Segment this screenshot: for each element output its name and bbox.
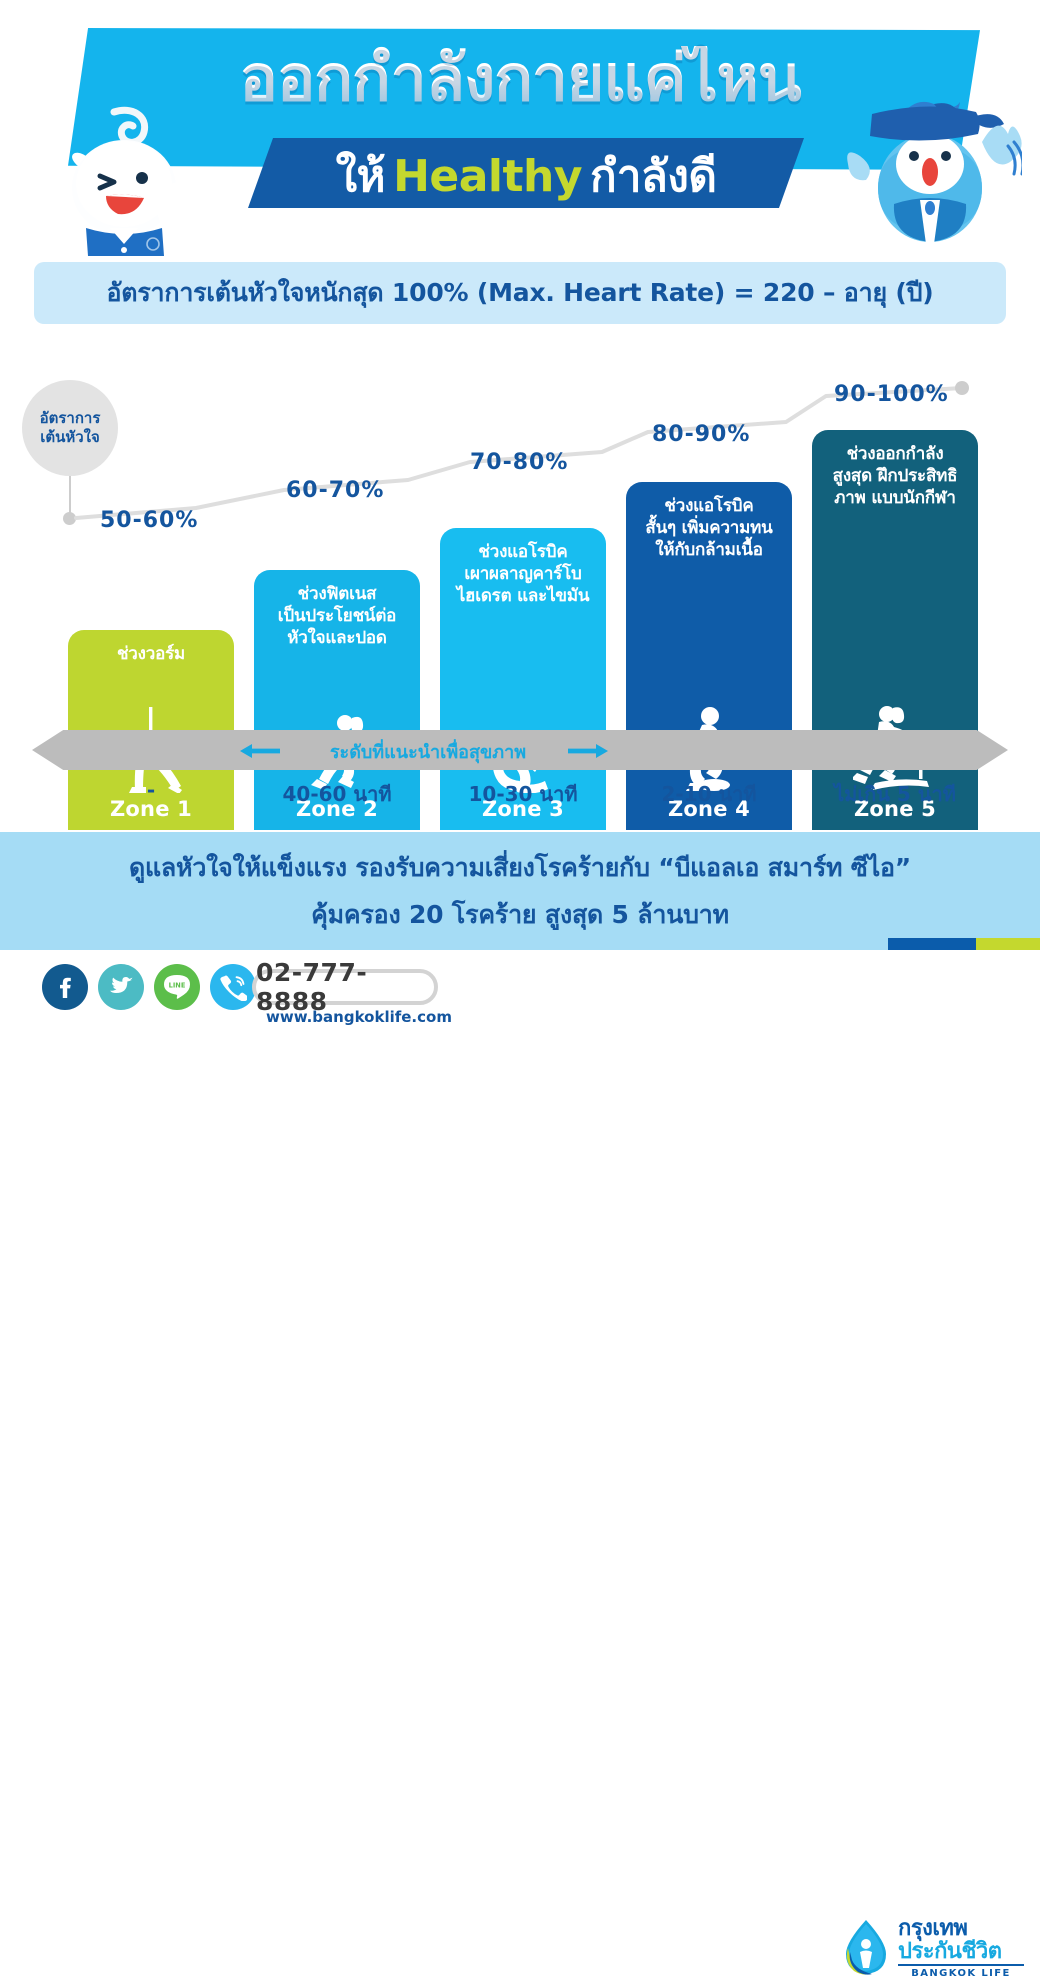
zone-4-description: ช่วงแอโรบิคสั้นๆ เพิ่มความทนให้กับกล้ามเ… [639,496,778,561]
percent-label-zone-5: 90-100% [834,382,949,407]
logo-th-line1: กรุงเทพ [898,1917,1024,1940]
mascot-blue-icon [842,92,1022,258]
heart-rate-axis-label: อัตราการ เต้นหัวใจ [22,380,118,476]
subtitle-post: กำลังดี [590,141,716,211]
running-person-icon [304,649,370,797]
zone-bar-5[interactable]: ช่วงออกกำลังสูงสุด ฝึกประสิทธิภาพ แบบนัก… [812,430,978,830]
hr-label-line1: อัตราการ [40,409,101,428]
duration-zone-1: - [68,778,234,802]
hr-origin-dot [63,512,76,525]
mascot-white-icon [52,104,212,256]
logo-en-line: BANGKOK LIFE [898,1964,1024,1979]
duration-zone-5: ไม่เกิน 5 นาที [812,778,978,810]
zone-2-description: ช่วงฟิตเนสเป็นประโยชน์ต่อหัวใจและปอด [272,584,402,649]
percent-label-zone-2: 60-70% [286,478,384,503]
duration-row: - 40-60 นาที 10-30 นาที 2-10 นาที ไม่เกิ… [0,778,1040,818]
facebook-icon[interactable] [42,964,88,1010]
bangkok-life-logo: กรุงเทพ ประกันชีวิต BANGKOK LIFE [838,1918,1024,1976]
website-url[interactable]: www.bangkoklife.com [266,1008,446,1026]
svg-text:LINE: LINE [169,982,186,990]
header-section: ออกกำลังกายแค่ไหน ให้ Healthy กำลังดี [0,0,1040,252]
logo-mark-icon [838,1918,894,1976]
duration-zone-3: 10-30 นาที [440,778,606,810]
line-icon[interactable]: LINE [154,964,200,1010]
header-subtitle: ให้ Healthy กำลังดี [248,146,804,206]
hr-stem [69,476,71,516]
recommended-range-label: ระดับที่แนะนำเพื่อสุขภาพ [238,738,618,764]
cta-line-1: ดูแลหัวใจให้แข็งแรง รองรับความเสี่ยงโรคร… [129,848,911,888]
logo-text: กรุงเทพ ประกันชีวิต BANGKOK LIFE [898,1917,1024,1979]
logo-th-line2: ประกันชีวิต [898,1940,1024,1963]
zone-3-description: ช่วงแอโรบิคเผาผลาญคาร์โบไฮเดรต และไขมัน [451,542,596,607]
formula-banner: อัตราการเต้นหัวใจหนักสุด 100% (Max. Hear… [34,262,1006,324]
zone-5-description: ช่วงออกกำลังสูงสุด ฝึกประสิทธิภาพ แบบนัก… [827,444,964,509]
hr-label-line2: เต้นหัวใจ [40,428,100,447]
infographic-root: ออกกำลังกายแค่ไหน ให้ Healthy กำลังดี อั… [0,0,1040,1040]
duration-zone-2: 40-60 นาที [254,778,420,810]
duration-zone-4: 2-10 นาที [626,778,792,810]
cta-section: ดูแลหัวใจให้แข็งแรง รองรับความเสี่ยงโรคร… [0,832,1040,950]
phone-number[interactable]: 02-777-8888 [252,969,438,1005]
cta-line-2: คุ้มครอง 20 โรคร้าย สูงสุด 5 ล้านบาท [311,895,729,935]
percent-label-zone-4: 80-90% [652,422,750,447]
subtitle-pre: ให้ [336,141,386,211]
percent-label-zone-3: 70-80% [470,450,568,475]
subtitle-highlight: Healthy [393,151,582,202]
twitter-icon[interactable] [98,964,144,1010]
zone-1-description: ช่วงวอร์ม [111,644,191,666]
footer-section: LINE 02-777-8888 www.bangkoklife.com กรุ… [0,950,1040,1040]
telephone-icon[interactable] [210,964,256,1010]
percent-label-zone-1: 50-60% [100,508,198,533]
